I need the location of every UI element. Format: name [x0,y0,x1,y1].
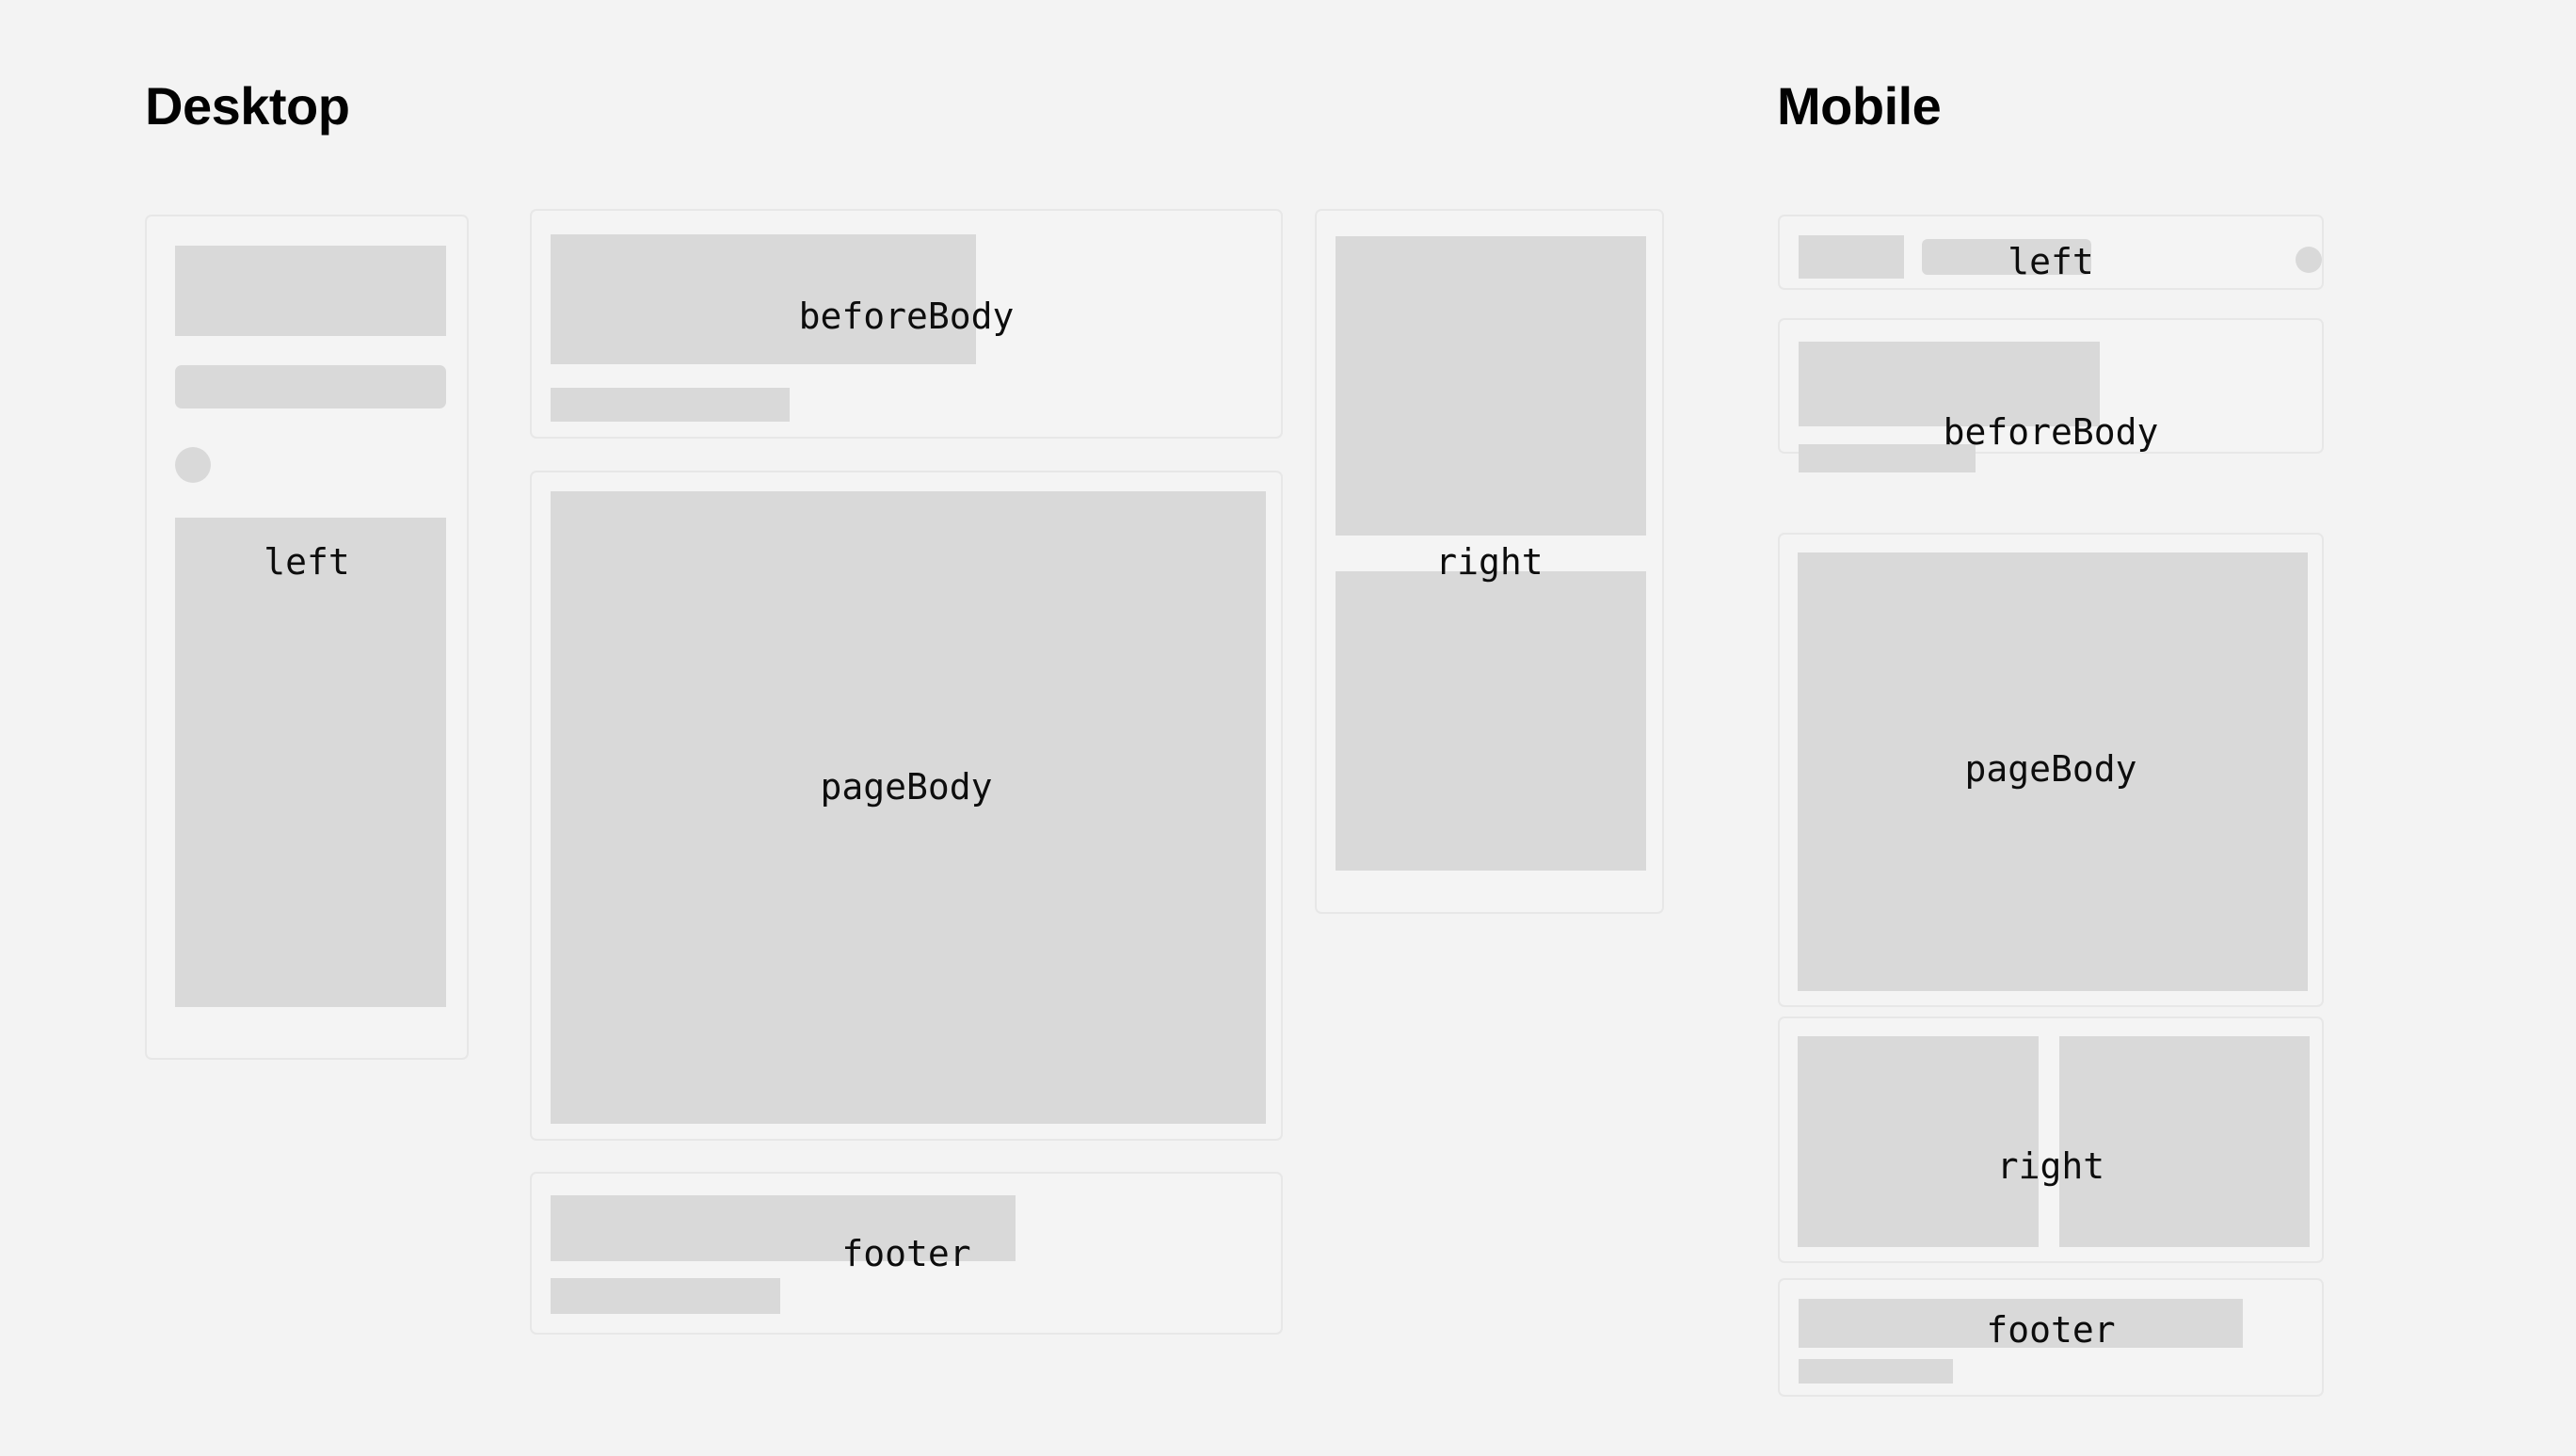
desktop-right-widget-top-block [1336,236,1646,536]
desktop-pagebody-content-block [551,491,1266,1124]
page-title-desktop: Desktop [145,80,349,133]
desktop-right-widget-bottom-block [1336,571,1646,871]
mobile-left-pill-block [1922,239,2091,275]
mobile-right-region-card[interactable] [1778,1016,2324,1263]
mobile-right-widget-right-block [2059,1036,2310,1247]
desktop-beforebody-caption-block [551,388,790,422]
desktop-beforebody-region-card[interactable] [530,209,1283,439]
desktop-left-subheader-block [175,365,446,408]
desktop-left-header-block [175,246,446,336]
mobile-left-header-block [1799,235,1904,279]
mobile-footer-bar-block [1799,1299,2243,1348]
desktop-left-avatar-circle-icon [175,447,211,483]
desktop-left-nav-panel-block [175,518,446,1007]
page-title-mobile: Mobile [1777,80,1941,133]
mobile-beforebody-region-card[interactable] [1778,318,2324,454]
desktop-pagebody-region-card[interactable] [530,471,1283,1141]
desktop-footer-region-card[interactable] [530,1172,1283,1335]
mobile-footer-caption-block [1799,1359,1953,1384]
desktop-footer-caption-block [551,1278,780,1314]
mobile-beforebody-caption-block [1799,444,1976,472]
desktop-footer-bar-block [551,1195,1016,1261]
mobile-left-region-card[interactable] [1778,215,2324,290]
mobile-beforebody-banner-block [1799,342,2100,426]
desktop-right-region-card[interactable] [1315,209,1664,914]
desktop-beforebody-banner-block [551,234,976,364]
mobile-footer-region-card[interactable] [1778,1278,2324,1397]
mobile-pagebody-content-block [1798,552,2308,991]
mobile-left-avatar-circle-icon [2296,247,2322,273]
mobile-right-widget-left-block [1798,1036,2039,1247]
mobile-pagebody-region-card[interactable] [1778,533,2324,1007]
desktop-left-region-card[interactable] [145,215,469,1060]
